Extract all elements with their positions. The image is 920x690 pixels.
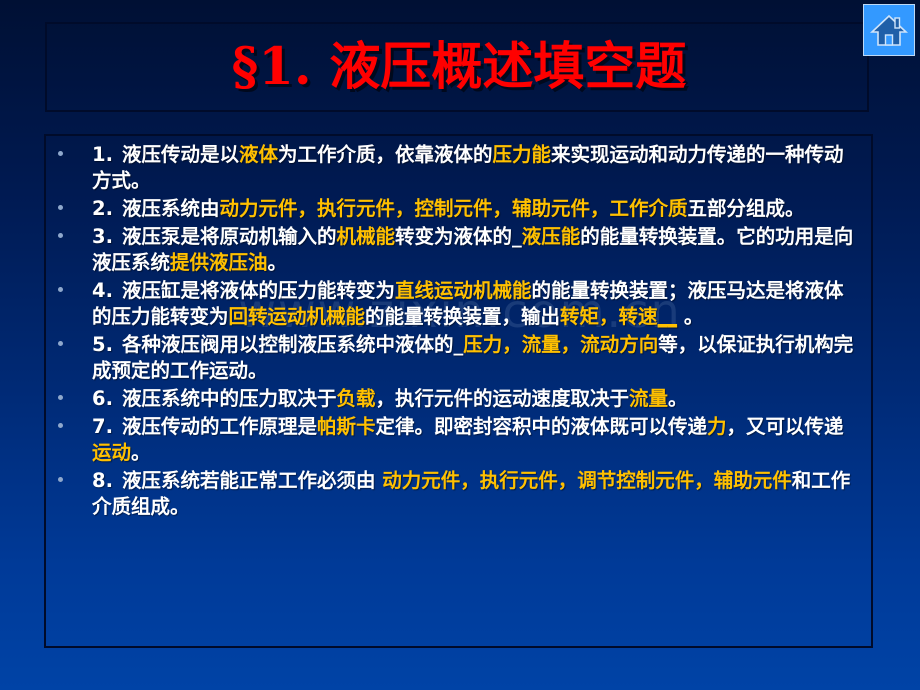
body-text: _	[512, 225, 522, 248]
bullet-dot-icon	[58, 205, 63, 210]
body-text: 。	[677, 305, 703, 328]
bullet-dot-icon	[58, 287, 63, 292]
list-item: 6.液压系统中的压力取决于负载，执行元件的运动速度取决于流量。	[46, 386, 861, 412]
list-item: 5.各种液压阀用以控制液压系统中液体的_压力，流量，流动方向等，以保证执行机构完…	[46, 332, 861, 384]
list-item: 2.液压系统由动力元件，执行元件，控制元件，辅助元件，工作介质五部分组成。	[46, 196, 861, 222]
answer-text: 提供液压油	[170, 251, 268, 274]
home-button[interactable]	[863, 4, 915, 56]
item-number: 1.	[92, 143, 113, 166]
answer-text: 液体	[239, 143, 278, 166]
title-box: §1. 液压概述填空题	[45, 22, 869, 112]
item-number: 4.	[92, 279, 113, 302]
body-text: 液压系统中的压力取决于	[122, 387, 337, 410]
bullet-dot-icon	[58, 151, 63, 156]
answer-text: 液压能	[522, 225, 581, 248]
bullet-dot-icon	[58, 341, 63, 346]
answer-text: 机械能	[337, 225, 396, 248]
list-item: 3.液压泵是将原动机输入的机械能转变为液体的_液压能的能量转换装置。它的功用是向…	[46, 224, 861, 276]
item-number: 7.	[92, 415, 113, 438]
body-text: 液压缸是将液体的压力能转变为	[122, 279, 395, 302]
bullet-dot-icon	[58, 423, 63, 428]
page-title: §1. 液压概述填空题	[47, 30, 871, 104]
answer-text: 负载	[337, 387, 376, 410]
slide-canvas: www.zixin.com.cn §1. 液压概述填空题 1.液压传动是以液体为…	[0, 0, 920, 690]
answer-text: 动力元件，执行元件，调节控制元件，辅助元件	[382, 469, 792, 492]
answer-text: 动力元件，执行元件，控制元件，辅助元件，工作介质	[220, 197, 688, 220]
answer-text: 流量	[629, 387, 668, 410]
answer-text: 回转运动机械能	[229, 305, 366, 328]
body-text: 液压系统若能正常工作必须由	[122, 469, 382, 492]
list-item: 4.液压缸是将液体的压力能转变为直线运动机械能的能量转换装置；液压马达是将液体的…	[46, 278, 861, 330]
bullet-dot-icon	[58, 395, 63, 400]
body-text: 。	[268, 251, 288, 274]
body-text: 的能量转换装置，输出	[365, 305, 560, 328]
body-text: 液压传动的工作原理是	[122, 415, 317, 438]
body-text: 液压泵是将原动机输入的	[122, 225, 337, 248]
item-number: 3.	[92, 225, 113, 248]
answer-text: 转矩，转速	[560, 305, 658, 328]
bullet-list: 1.液压传动是以液体为工作介质，依靠液体的压力能来实现运动和动力传递的一种传动方…	[46, 142, 861, 520]
body-text: 。	[131, 441, 151, 464]
body-text: 定律。即密封容积中的液体既可以传递	[376, 415, 708, 438]
body-text: 五部分组成。	[688, 197, 805, 220]
answer-text: 帕斯卡	[317, 415, 376, 438]
body-text: 液压系统由	[122, 197, 220, 220]
home-icon	[869, 10, 909, 50]
body-text: 液压传动是以	[122, 143, 239, 166]
body-text: _	[454, 333, 464, 356]
answer-text: 直线运动机械能	[395, 279, 532, 302]
answer-text: 压力能	[493, 143, 552, 166]
answer-text: 压力，流量，流动方向	[463, 333, 658, 356]
item-number: 5.	[92, 333, 113, 356]
body-text: ，执行元件的运动速度取决于	[376, 387, 630, 410]
list-item: 7.液压传动的工作原理是帕斯卡定律。即密封容积中的液体既可以传递力，又可以传递运…	[46, 414, 861, 466]
item-number: 8.	[92, 469, 113, 492]
list-item: 1.液压传动是以液体为工作介质，依靠液体的压力能来实现运动和动力传递的一种传动方…	[46, 142, 861, 194]
answer-text: 运动	[92, 441, 131, 464]
item-number: 2.	[92, 197, 113, 220]
body-text: 。	[668, 387, 688, 410]
list-item: 8.液压系统若能正常工作必须由 动力元件，执行元件，调节控制元件，辅助元件和工作…	[46, 468, 861, 520]
body-text: 各种液压阀用以控制液压系统中液体的	[122, 333, 454, 356]
bullet-dot-icon	[58, 233, 63, 238]
answer-blank: __	[658, 305, 678, 328]
answer-text: 力	[707, 415, 727, 438]
body-text: 为工作介质，依靠液体的	[278, 143, 493, 166]
body-text: 转变为液体的	[395, 225, 512, 248]
item-number: 6.	[92, 387, 113, 410]
bullet-dot-icon	[58, 477, 63, 482]
body-text: ，又可以传递	[727, 415, 844, 438]
content-box: 1.液压传动是以液体为工作介质，依靠液体的压力能来实现运动和动力传递的一种传动方…	[44, 134, 873, 648]
